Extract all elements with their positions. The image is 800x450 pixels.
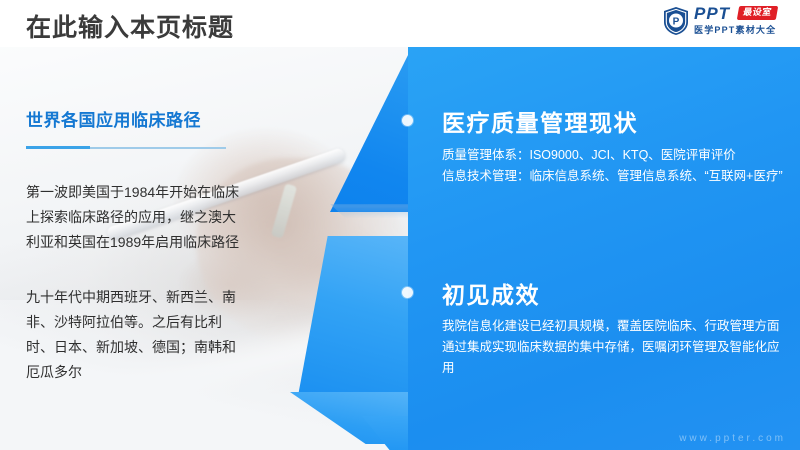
left-section-heading: 世界各国应用临床路径 [26, 106, 201, 131]
page-title: 在此输入本页标题 [26, 8, 234, 44]
panel-block-2-line-1: 我院信息化建设已经初具规模，覆盖医院临床、行政管理方面 [442, 316, 788, 337]
svg-text:P: P [673, 17, 680, 28]
left-paragraph-1: 第一波即美国于1984年开始在临床上探索临床路径的应用，继之澳大利亚和英国在19… [26, 180, 248, 255]
slide: 在此输入本页标题 P PPT 最设室 医学PPT素材大全 世界各国应用临床路径 … [0, 0, 800, 450]
panel-block-1-line-2: 信息技术管理：临床信息系统、管理信息系统、“互联网+医疗” [442, 166, 788, 187]
logo-brand-text: PPT [694, 5, 730, 22]
panel-block-1-line-1: 质量管理体系：ISO9000、JCI、KTQ、医院评审评价 [442, 145, 788, 166]
panel-block-2-line-2: 通过集成实现临床数据的集中存储，医嘱闭环管理及智能化应用 [442, 337, 788, 379]
footer-watermark: www.ppter.com [679, 433, 786, 444]
bullet-dot-icon-2 [402, 287, 413, 298]
left-paragraph-2: 九十年代中期西班牙、新西兰、南非、沙特阿拉伯等。之后有比利时、日本、新加坡、德国… [26, 285, 248, 385]
panel-block-heading-2: 初见成效 [442, 276, 540, 310]
panel-block-body-1: 质量管理体系：ISO9000、JCI、KTQ、医院评审评价 信息技术管理：临床信… [442, 145, 788, 187]
logo-subtitle: 医学PPT素材大全 [694, 23, 776, 36]
panel-block-body-2: 我院信息化建设已经初具规模，覆盖医院临床、行政管理方面 通过集成实现临床数据的集… [442, 316, 788, 379]
logo-badge: 最设室 [737, 6, 778, 20]
panel-block-heading-1: 医疗质量管理现状 [442, 104, 638, 138]
underline-segment-accent [26, 146, 90, 149]
brand-logo[interactable]: P PPT 最设室 医学PPT素材大全 [662, 5, 792, 37]
left-heading-underline [26, 146, 226, 149]
shield-p-icon: P [662, 6, 690, 36]
bullet-dot-icon-1 [402, 115, 413, 126]
underline-segment-light [90, 147, 226, 149]
